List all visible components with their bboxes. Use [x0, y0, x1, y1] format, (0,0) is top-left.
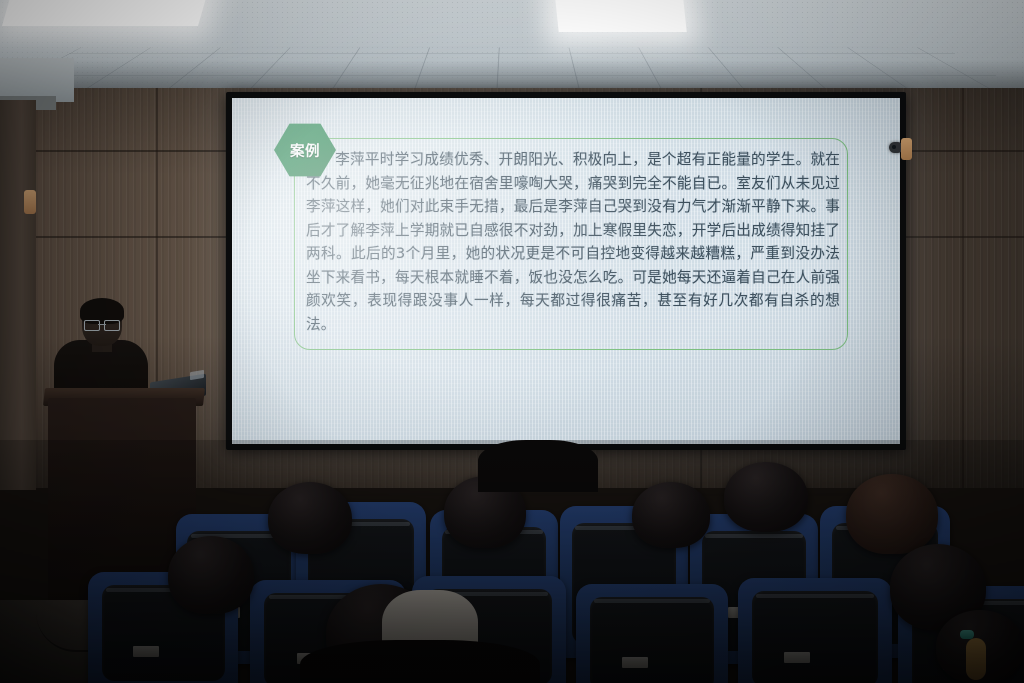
head-6 [846, 474, 938, 554]
seat-r2-c4 [576, 584, 728, 683]
seat-number-tag [622, 657, 648, 668]
head-1 [168, 536, 254, 614]
shoulder-foreground [300, 640, 540, 683]
seat-number-tag [133, 646, 159, 657]
eyeglasses-icon [84, 320, 120, 329]
left-wall-column [0, 100, 36, 490]
head-4 [632, 482, 710, 548]
audience-area [0, 440, 1024, 683]
ponytail [966, 638, 986, 680]
lecture-hall-photo: 案例 李萍平时学习成绩优秀、开朗阳光、积极向上，是个超有正能量的学生。就在不久前… [0, 0, 1024, 683]
screen-vignette [232, 98, 900, 444]
ceiling-light-1 [2, 0, 210, 26]
projection-screen[interactable]: 案例 李萍平时学习成绩优秀、开朗阳光、积极向上，是个超有正能量的学生。就在不久前… [232, 98, 900, 444]
ceiling-light-2 [553, 0, 686, 32]
seat-r2-c5 [738, 578, 892, 683]
glasses-bridge [98, 324, 106, 325]
seat-headrest [590, 597, 715, 683]
clip-dot-icon [892, 145, 896, 149]
seat-highlight [756, 594, 873, 598]
lens-left [84, 320, 100, 331]
screen-left-wood-tab [24, 190, 36, 214]
screen-right-wood-tab [901, 138, 912, 160]
seat-number-tag [784, 652, 810, 663]
seat-highlight [594, 599, 710, 603]
shoulder-front-dark [478, 440, 598, 492]
head-2 [268, 482, 352, 554]
head-5 [724, 462, 808, 532]
lens-right [104, 320, 120, 331]
seat-highlight [705, 534, 802, 538]
laptop-screen-glint [190, 370, 204, 380]
seat-headrest [752, 591, 878, 683]
